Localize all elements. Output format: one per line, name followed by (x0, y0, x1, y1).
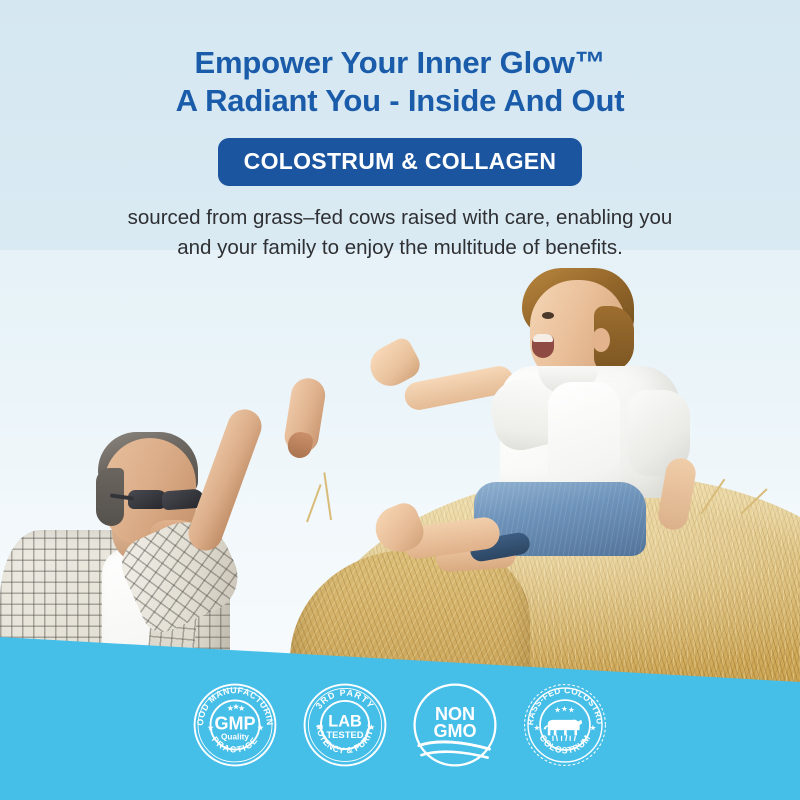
cow-icon (544, 720, 583, 736)
hero-photo (0, 250, 800, 690)
subcopy: sourced from grass–fed cows raised with … (60, 203, 740, 262)
badge-colostrum-bottom-arc: COLOSTRUM (537, 733, 592, 755)
grass-icon (553, 735, 575, 740)
headline-line-1: Empower Your Inner Glow™ (0, 44, 800, 82)
svg-text:★: ★ (562, 705, 569, 713)
badge-grass-fed-colostrum: GRASS-FED COLOSTRUM COLOSTRUM ★ ★ ★ (522, 682, 608, 768)
headline-line-2: A Radiant You - Inside And Out (0, 82, 800, 120)
star-icon: ★ (316, 723, 323, 731)
svg-text:COLOSTRUM: COLOSTRUM (537, 733, 592, 755)
star-icon: ★ (533, 725, 540, 732)
badge-gmp: GOOD MANUFACTURING PRACTICE ★ ★ ★ GMP Qu… (192, 682, 278, 768)
badge-gmp-primary: GMP (214, 713, 255, 733)
star-icon: ★ ★ ★ (227, 703, 245, 712)
badge-gmp-secondary: Quality (221, 733, 249, 742)
man-sunglasses-icon (128, 490, 206, 510)
star-icon: ★ (589, 725, 596, 732)
badge-colostrum-top-arc: GRASS-FED COLOSTRUM (522, 682, 605, 726)
svg-text:★: ★ (555, 706, 562, 714)
badge-lab-tested: 3RD PARTY POTENCY & PURITY LAB TESTED ★ … (302, 682, 388, 768)
star-icon: ★ ★ ★ (555, 705, 576, 714)
svg-text:★: ★ (238, 704, 245, 712)
badge-lab-secondary: TESTED (326, 730, 363, 741)
boy-figure (380, 270, 710, 570)
star-icon: ★ (368, 723, 375, 731)
certification-badges: GOOD MANUFACTURING PRACTICE ★ ★ ★ GMP Qu… (0, 682, 800, 768)
subcopy-line-1: sourced from grass–fed cows raised with … (60, 203, 740, 233)
product-badge: COLOSTRUM & COLLAGEN (218, 138, 583, 186)
badge-nongmo-secondary: GMO (433, 721, 476, 741)
svg-text:GRASS-FED COLOSTRUM: GRASS-FED COLOSTRUM (522, 682, 605, 726)
promo-banner: Empower Your Inner Glow™ A Radiant You -… (0, 0, 800, 800)
svg-text:★: ★ (568, 706, 575, 714)
page-title: Empower Your Inner Glow™ A Radiant You -… (0, 44, 800, 120)
star-icon: ★ (257, 724, 264, 732)
subcopy-line-2: and your family to enjoy the multitude o… (60, 233, 740, 263)
boy-teeth (533, 334, 553, 342)
product-badge-wrap: COLOSTRUM & COLLAGEN (0, 138, 800, 186)
boy-eye (542, 312, 554, 319)
badge-lab-primary: LAB (328, 713, 362, 731)
badge-non-gmo: NON GMO (412, 682, 498, 768)
boy-ear (592, 328, 610, 352)
star-icon: ★ (207, 724, 214, 732)
